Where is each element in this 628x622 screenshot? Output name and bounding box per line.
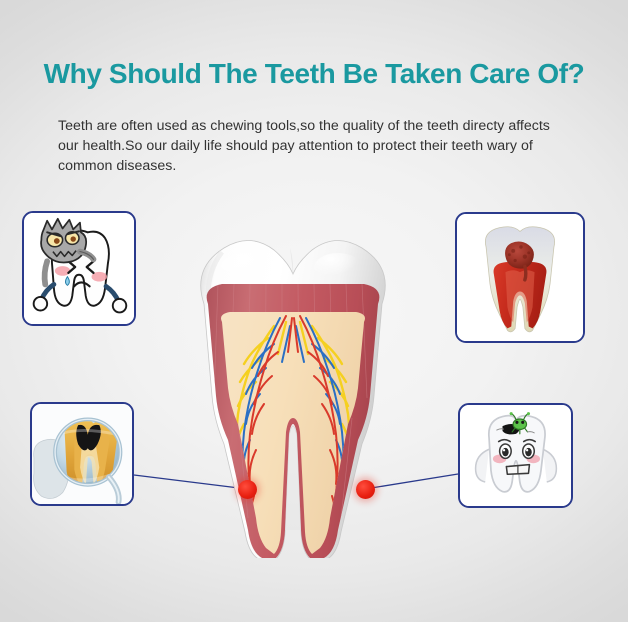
magnifier-cavity-inspection-photo[interactable] <box>30 402 134 506</box>
root-marker-left <box>238 480 257 499</box>
germ-attacking-tooth-illustration[interactable] <box>22 211 136 326</box>
dental-care-infographic: Why Should The Teeth Be Taken Care Of? T… <box>0 0 628 622</box>
root-marker-right <box>356 480 375 499</box>
molar-tooth-cross-section <box>178 218 408 558</box>
worried-tooth-with-bug-illustration[interactable] <box>458 403 573 508</box>
tooth-decay-cross-section-photo[interactable] <box>455 212 585 343</box>
